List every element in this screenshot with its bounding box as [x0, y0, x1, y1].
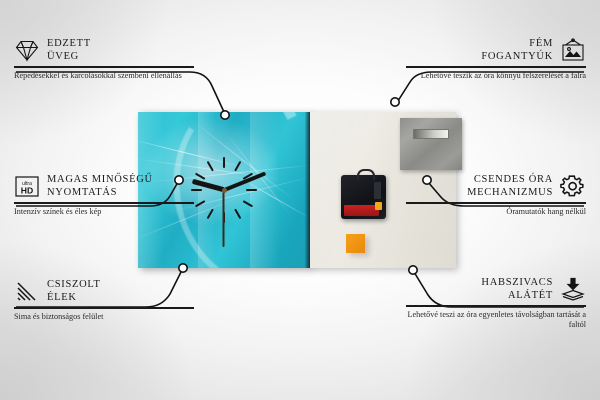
- gear-icon: [560, 174, 586, 199]
- svg-text:HD: HD: [21, 186, 33, 196]
- feature-description: Sima és biztonságos felület: [14, 312, 194, 322]
- feature-description: Óramutatók hang nélkül: [406, 207, 586, 217]
- feature-description: Lehetővé teszi az óra egyenletes távolsá…: [406, 310, 586, 330]
- feature-description: Intenzív színek és éles kép: [14, 207, 194, 217]
- feature-polished-edges: CSISZOLTÉLEK Sima és biztonságos felület: [14, 279, 194, 322]
- clock-center-cap: [222, 188, 227, 193]
- feature-description: Repedésekkel és karcolásokkal szembeni e…: [14, 71, 194, 81]
- feature-foam-pad: HABSZIVACSALÁTÉT Lehetővé teszi az óra e…: [406, 277, 586, 330]
- feature-silent-mechanism: CSENDES ÓRAMECHANIZMUS Óramutatók hang n…: [406, 174, 586, 217]
- feature-title: FÉMFOGANTYÚK: [481, 38, 553, 63]
- divider: [14, 307, 194, 309]
- feature-title: EDZETTÜVEG: [47, 38, 91, 63]
- divider: [406, 66, 586, 68]
- feature-description: Lehetővé teszik az óra könnyű felszerelé…: [406, 71, 586, 81]
- divider: [406, 305, 586, 307]
- feature-title: CSENDES ÓRAMECHANIZMUS: [467, 174, 553, 199]
- feature-tempered-glass: EDZETTÜVEG Repedésekkel és karcolásokkal…: [14, 38, 194, 81]
- divider: [14, 66, 194, 68]
- foam-pad-part: [346, 234, 365, 253]
- feature-title: HABSZIVACSALÁTÉT: [481, 277, 553, 302]
- foam-pad-icon: [560, 277, 586, 302]
- polished-edges-icon: [14, 279, 40, 304]
- ultra-hd-icon: ultra HD: [14, 174, 40, 199]
- picture-hanger-icon: [560, 38, 586, 63]
- feature-metal-handles: FÉMFOGANTYÚK Lehetővé teszik az óra könn…: [406, 38, 586, 81]
- feature-title: MAGAS MINŐSÉGŰNYOMTATÁS: [47, 174, 153, 199]
- feature-high-quality-print: ultra HD MAGAS MINŐSÉGŰNYOMTATÁS Intenzí…: [14, 174, 194, 217]
- diamond-icon: [14, 38, 40, 63]
- infographic-canvas: EDZETTÜVEG Repedésekkel és karcolásokkal…: [0, 0, 600, 400]
- clock-movement-part: [341, 175, 386, 219]
- divider: [14, 202, 194, 204]
- metal-hanger-part: [400, 118, 462, 170]
- divider: [406, 202, 586, 204]
- feature-title: CSISZOLTÉLEK: [47, 279, 101, 304]
